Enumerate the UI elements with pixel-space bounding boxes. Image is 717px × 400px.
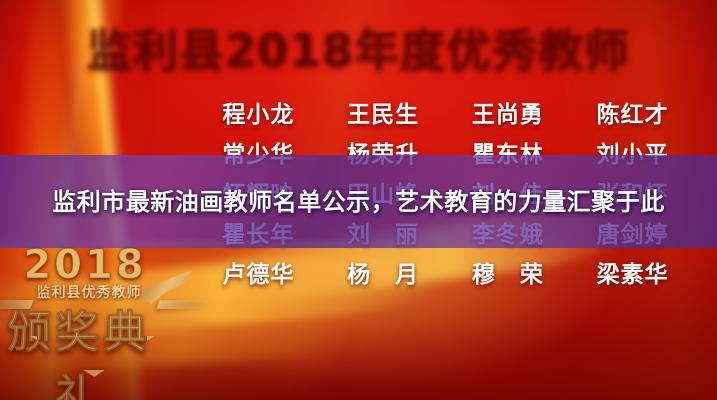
name-cell: 王尚勇 [446, 95, 571, 129]
name-cell: 梁素华 [570, 255, 695, 289]
name-cell: 王民生 [321, 95, 446, 129]
caption-text: 监利市最新油画教师名单公示，艺术教育的力量汇聚于此 [29, 186, 689, 218]
name-cell: 杨 月 [321, 255, 446, 289]
name-row: 卢德华 杨 月 穆 荣 梁素华 [196, 252, 695, 292]
name-cell: 穆 荣 [446, 255, 571, 289]
award-ceremony-emblem: 2018 监利县优秀教师 颁奖典礼 [6, 240, 184, 375]
name-cell: 卢德华 [196, 255, 321, 289]
name-cell: 程小龙 [196, 95, 321, 129]
name-cell: 陈红才 [570, 95, 695, 129]
name-row: 程小龙 王民生 王尚勇 陈红才 [196, 92, 695, 132]
poster-image: 监利县2018年度优秀教师 程小龙 王民生 王尚勇 陈红才 常少华 杨荣升 瞿东… [0, 0, 717, 400]
caption-overlay-band: 监利市最新油画教师名单公示，艺术教育的力量汇聚于此 [0, 155, 717, 248]
poster-title: 监利县2018年度优秀教师 [0, 22, 717, 74]
